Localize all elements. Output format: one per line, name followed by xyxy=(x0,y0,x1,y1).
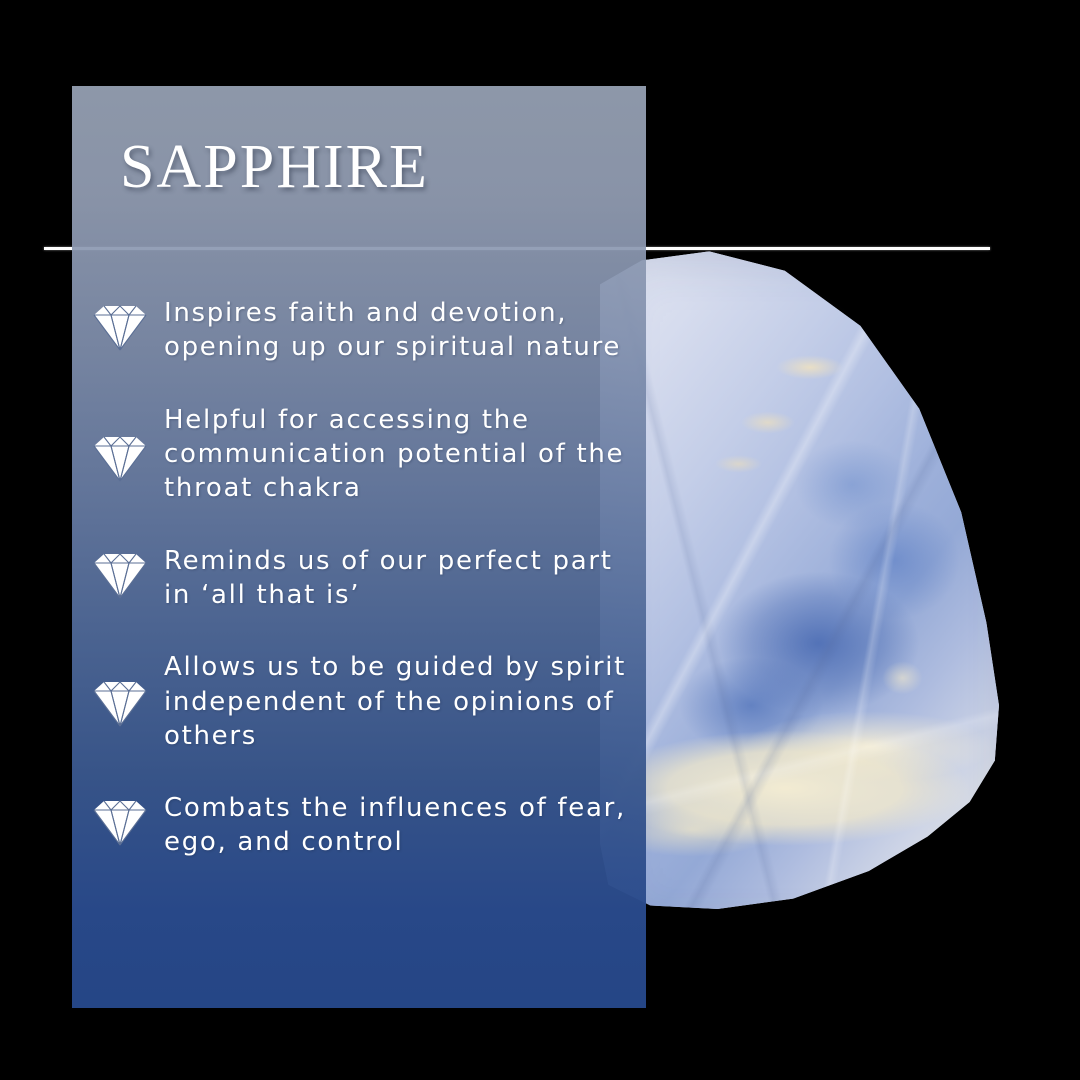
list-item-text: Combats the influences of fear, ego, and… xyxy=(164,791,634,860)
list-item-text: Inspires faith and devotion, opening up … xyxy=(164,296,634,365)
list-item-text: Allows us to be guided by spirit indepen… xyxy=(164,650,634,753)
poster: SAPPHIRE xyxy=(0,0,1080,1080)
list-item-text: Reminds us of our perfect part in ‘all t… xyxy=(164,544,634,613)
diamond-icon xyxy=(92,678,148,728)
sapphire-crystal-photo xyxy=(600,250,1080,950)
diamond-icon xyxy=(92,550,148,600)
content-panel: SAPPHIRE xyxy=(72,86,646,1008)
list-item: Allows us to be guided by spirit indepen… xyxy=(92,650,646,753)
diamond-icon xyxy=(92,302,148,352)
list-item: Helpful for accessing the communication … xyxy=(92,403,646,506)
crystal-facet-lines xyxy=(600,250,1020,940)
crystal-body xyxy=(600,250,1020,940)
diamond-icon xyxy=(92,433,148,483)
list-item: Inspires faith and devotion, opening up … xyxy=(92,296,646,365)
list-item: Reminds us of our perfect part in ‘all t… xyxy=(92,544,646,613)
page-title: SAPPHIRE xyxy=(120,136,429,198)
diamond-icon xyxy=(92,797,148,847)
list-item-text: Helpful for accessing the communication … xyxy=(164,403,634,506)
benefit-list: Inspires faith and devotion, opening up … xyxy=(92,296,646,898)
list-item: Combats the influences of fear, ego, and… xyxy=(92,791,646,860)
